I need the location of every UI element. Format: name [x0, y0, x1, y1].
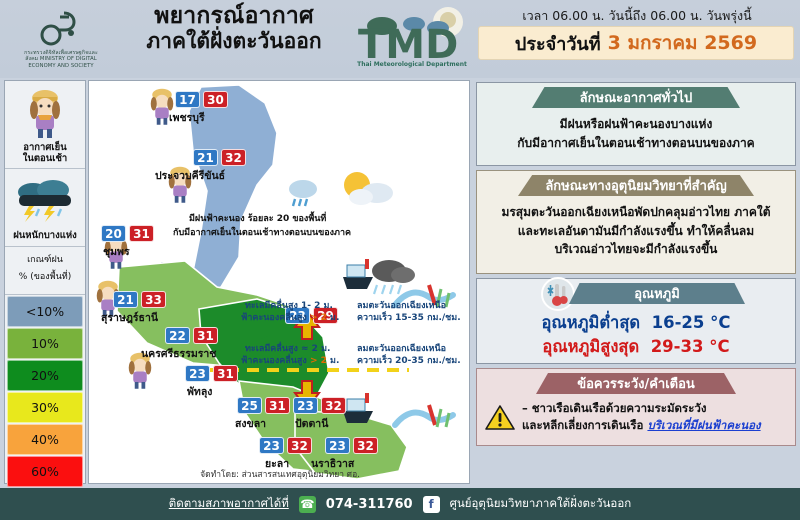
scale-row-3: 30%	[7, 392, 83, 423]
scale-row-2: 20%	[7, 360, 83, 391]
temp-min: 23	[259, 437, 284, 454]
province-label-prachuap: ประจวบคีรีขันธ์	[155, 167, 225, 184]
time-range: เวลา 06.00 น. วันนี้ถึง 06.00 น. วันพรุ่…	[478, 6, 796, 26]
panel-meteo-body: มรสุมตะวันออกเฉียงเหนือพัดปกคลุมอ่าวไทย …	[477, 196, 795, 268]
temp-max: 32	[221, 149, 246, 166]
temp-min-row: อุณหภูมิต่ำสุด 16-25 °C	[485, 311, 787, 335]
page-title: พยากรณ์อากาศ ภาคใต้ฝั่งตะวันออก	[108, 4, 360, 53]
meteo-line-2: และทะเลอันดามันมีกำลังแรงขึ้น ทำให้คลื่น…	[485, 222, 787, 241]
ministry-emblem-icon	[38, 9, 84, 49]
date-badge: ประจำวันที่ 3 มกราคม 2569	[478, 26, 794, 60]
map-note-rain-line-2: กับมีอากาศเย็นในตอนเช้าทางตอนบนของภาค	[173, 227, 351, 239]
temp-max: 32	[287, 437, 312, 454]
wind-swirl-icon-south	[389, 399, 459, 441]
sea-south-text-b: > 2	[310, 356, 330, 366]
temp-max-label: อุณหภูมิสูงสุด	[542, 337, 639, 356]
map-note-wind-north-1: ลมตะวันออกเฉียงเหนือ	[357, 300, 446, 312]
scale-row-4: 40%	[7, 424, 83, 455]
map-note-sea-north-2: ฟ้าคะนองคลื่นสูง > 2 ม.	[241, 312, 339, 324]
legend-cold-label-1: อากาศเย็น	[7, 142, 83, 153]
warning-text: – ชาวเรือเดินเรือด้วยความระมัดระวัง และห…	[522, 400, 761, 435]
footer-phone[interactable]: 074-311760	[326, 497, 413, 512]
temp-badge-songkhla: 25 31	[237, 397, 290, 414]
temp-min: 23	[325, 437, 350, 454]
temp-max: 30	[203, 91, 228, 108]
phone-icon: ☎	[299, 496, 316, 513]
forecast-map: 17 30 เพชรบุรี 21 32 ประจวบคีรีขันธ์ 20 …	[88, 80, 470, 484]
temp-badge-nakhon: 22 31	[165, 327, 218, 344]
temp-min: 20	[101, 225, 126, 242]
legend-heavy-rain: ฝนหนักบางแห่ง	[5, 169, 85, 246]
temp-badge-yala: 23 32	[259, 437, 312, 454]
temp-min: 25	[237, 397, 262, 414]
map-note-sea-south-2: ฟ้าคะนองคลื่นสูง > 2 ม.	[241, 355, 339, 367]
title-line-1: พยากรณ์อากาศ	[108, 4, 360, 30]
sea-north-text-b: > 2	[310, 313, 330, 323]
scale-title-line-2: % (ของพื้นที่)	[7, 272, 83, 290]
temp-badge-chumphon: 20 31	[101, 225, 154, 242]
scale-title-line-1: เกณฑ์ฝน	[7, 250, 83, 273]
meteo-line-1: มรสุมตะวันออกเฉียงเหนือพัดปกคลุมอ่าวไทย …	[485, 203, 787, 222]
sea-north-text-a: ฟ้าคะนองคลื่นสูง	[241, 313, 310, 323]
map-note-wind-south-2: ความเร็ว 20-35 กม./ชม.	[357, 355, 461, 367]
meteo-line-3: บริเวณอ่าวไทยจะมีกำลังแรงขึ้น	[485, 240, 787, 259]
warning-line-1: – ชาวเรือเดินเรือด้วยความระมัดระวัง	[522, 400, 761, 417]
temp-min: 23	[185, 365, 210, 382]
sea-south-text-a: ฟ้าคะนองคลื่นสูง	[241, 356, 310, 366]
footer-facebook-page[interactable]: ศูนย์อุตุนิยมวิทยาภาคใต้ฝั่งตะวันออก	[450, 495, 632, 513]
temp-min-value: 16-25 °C	[652, 313, 731, 332]
temp-badge-surat: 21 33	[113, 291, 166, 308]
panel-temp-title: อุณหภูมิ	[569, 283, 745, 304]
temp-min: 21	[193, 149, 218, 166]
temp-min: 22	[165, 327, 190, 344]
title-line-2: ภาคใต้ฝั่งตะวันออก	[108, 30, 360, 54]
header: กระทรวงดิจิทัลเพื่อเศรษฐกิจและสังคม MINI…	[0, 0, 800, 78]
temp-max: 31	[129, 225, 154, 242]
map-credit: จัดทำโดย: ส่วนสารสนเทศอุตุนิยมวิทยา ศอ.	[89, 467, 470, 481]
temp-max: 31	[193, 327, 218, 344]
thunderstorm-cloud-icon	[7, 172, 83, 230]
legend-cold-label-2: ในตอนเช้า	[7, 153, 83, 164]
province-label-chumphon: ชุมพร	[103, 243, 130, 260]
temp-min-label: อุณหภูมิต่ำสุด	[542, 313, 641, 332]
province-label-pattani: ปัตตานี	[295, 415, 328, 432]
ministry-caption: กระทรวงดิจิทัลเพื่อเศรษฐกิจและสังคม MINI…	[18, 50, 104, 70]
date-value: 3 มกราคม 2569	[608, 28, 757, 58]
footer-follow-label: ติดตามสภาพอากาศได้ที่	[169, 495, 289, 513]
temp-min: 17	[175, 91, 200, 108]
temp-max: 31	[265, 397, 290, 414]
rain-percent-scale: <10%10%20%30%40%60%>60%	[5, 296, 85, 519]
ministry-logo: กระทรวงดิจิทัลเพื่อเศรษฐกิจและสังคม MINI…	[18, 8, 104, 70]
temp-badge-narathiwat: 23 32	[325, 437, 378, 454]
scale-row-1: 10%	[7, 328, 83, 359]
province-label-nakhon: นครศรีธรรมราช	[141, 345, 216, 362]
panel-temperature: อุณหภูมิ อุณหภูมิต่ำสุด 16-25 °C อุณหภูม…	[476, 278, 796, 364]
legend-scale-title: เกณฑ์ฝน % (ของพื้นที่)	[5, 247, 85, 295]
general-line-2: กับมีอากาศเย็นในตอนเช้าทางตอนบนของภาค	[485, 134, 787, 153]
province-label-phetchaburi: เพชรบุรี	[169, 109, 205, 126]
legend-cold-weather: อากาศเย็น ในตอนเช้า	[5, 81, 85, 169]
warning-triangle-icon	[485, 404, 515, 431]
panel-warning-body: – ชาวเรือเดินเรือด้วยความระมัดระวัง และห…	[477, 394, 795, 441]
map-note-sea-north-1: ทะเลมีคลื่นสูง 1- 2 ม.	[245, 300, 333, 312]
province-label-songkhla: สงขลา	[235, 415, 266, 432]
panel-general-weather: ลักษณะอากาศทั่วไป มีฝนหรือฝนฟ้าคะนองบางแ…	[476, 82, 796, 166]
panel-warning: ข้อควรระวัง/คำเตือน – ชาวเรือเดินเรือด้ว…	[476, 368, 796, 446]
province-label-phatthalung: พัทลุง	[187, 383, 212, 400]
temp-max: 32	[353, 437, 378, 454]
girl-winter-coat-icon	[7, 84, 83, 142]
temp-badge-prachuap: 21 32	[193, 149, 246, 166]
sea-north-text-c: ม.	[330, 313, 339, 323]
map-note-rain-line-1: มีฝนฟ้าคะนอง ร้อยละ 20 ของพื้นที่	[189, 213, 326, 225]
map-note-wind-south-1: ลมตะวันออกเฉียงเหนือ	[357, 343, 446, 355]
tmd-logo: TMD Thai Meteorological Department	[352, 4, 472, 72]
forecast-infographic: กระทรวงดิจิทัลเพื่อเศรษฐกิจและสังคม MINI…	[0, 0, 800, 520]
temp-badge-phetchaburi: 17 30	[175, 91, 228, 108]
thermometer-icon	[541, 277, 575, 311]
temp-max: 31	[213, 365, 238, 382]
panel-general-body: มีฝนหรือฝนฟ้าคะนองบางแห่ง กับมีอากาศเย็น…	[477, 108, 795, 161]
warning-line-2: และหลีกเลี่ยงการเดินเรือ บริเวณที่มีฝนฟ้…	[522, 417, 761, 434]
scale-row-5: 60%	[7, 456, 83, 487]
temp-min: 21	[113, 291, 138, 308]
temp-max: 33	[141, 291, 166, 308]
map-note-sea-south-1: ทะเลมีคลื่นสูง ≈ 2 ม.	[245, 343, 330, 355]
warning-line-2-b: บริเวณที่มีฝนฟ้าคะนอง	[647, 418, 760, 432]
panel-warning-title: ข้อควรระวัง/คำเตือน	[536, 373, 736, 394]
date-label: ประจำวันที่	[515, 29, 601, 58]
map-note-wind-north-2: ความเร็ว 15-35 กม./ชม.	[357, 312, 461, 324]
panel-meteo-title: ลักษณะทางอุตุนิยมวิทยาที่สำคัญ	[518, 175, 754, 196]
facebook-icon[interactable]: f	[423, 496, 440, 513]
footer: ติดตามสภาพอากาศได้ที่ ☎ 074-311760 f ศูน…	[0, 488, 800, 520]
panel-temp-body: อุณหภูมิต่ำสุด 16-25 °C อุณหภูมิสูงสุด 2…	[477, 304, 795, 368]
temp-badge-phatthalung: 23 31	[185, 365, 238, 382]
panel-general-title: ลักษณะอากาศทั่วไป	[532, 87, 740, 108]
warning-line-1-text: – ชาวเรือเดินเรือด้วยความระมัดระวัง	[522, 401, 706, 415]
legend-sidebar: อากาศเย็น ในตอนเช้า ฝนหนักบางแห่ง เกณฑ์ฝ…	[4, 80, 86, 484]
warning-line-2-a: และหลีกเลี่ยงการเดินเรือ	[522, 418, 647, 432]
temp-min: 23	[293, 397, 318, 414]
temp-max: 32	[321, 397, 346, 414]
temp-badge-pattani: 23 32	[293, 397, 346, 414]
general-line-1: มีฝนหรือฝนฟ้าคะนองบางแห่ง	[485, 115, 787, 134]
legend-rain-label: ฝนหนักบางแห่ง	[7, 230, 83, 241]
tmd-subtitle: Thai Meteorological Department	[352, 61, 472, 68]
scale-row-0: <10%	[7, 296, 83, 327]
temp-max-value: 29-33 °C	[651, 337, 730, 356]
sea-south-text-c: ม.	[330, 356, 339, 366]
temp-max-row: อุณหภูมิสูงสุด 29-33 °C	[485, 335, 787, 359]
province-label-surat: สุราษฎร์ธานี	[101, 309, 158, 326]
panel-meteorology: ลักษณะทางอุตุนิยมวิทยาที่สำคัญ มรสุมตะวั…	[476, 170, 796, 274]
